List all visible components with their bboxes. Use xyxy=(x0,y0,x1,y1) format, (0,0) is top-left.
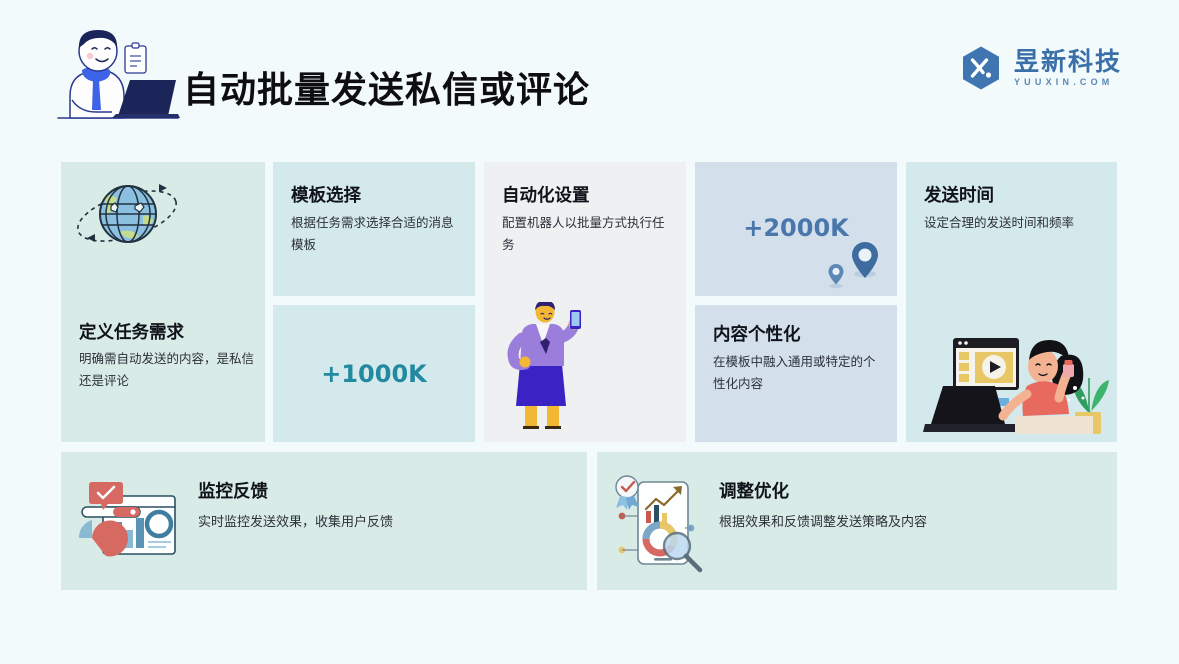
card-automation-setup[interactable]: 自动化设置 配置机器人以批量方式执行任务 xyxy=(484,162,686,442)
card-title: 监控反馈 xyxy=(198,478,268,503)
stat-value: +1000K xyxy=(321,360,427,388)
analytics-dashboard-icon xyxy=(76,474,181,569)
card-define-task[interactable]: 定义任务需求 明确需自动发送的内容，是私信还是评论 xyxy=(61,162,265,442)
map-pin-icon xyxy=(823,231,885,291)
card-content-personalization[interactable]: 内容个性化 在模板中融入通用或特定的个性化内容 xyxy=(695,305,897,442)
globe-orbit-icon xyxy=(73,172,181,260)
card-description: 明确需自动发送的内容，是私信还是评论 xyxy=(79,348,254,391)
card-description: 根据任务需求选择合适的消息模板 xyxy=(291,212,461,255)
card-title: 定义任务需求 xyxy=(79,319,184,344)
brand-name: 昱新科技 xyxy=(1014,49,1122,74)
card-title: 自动化设置 xyxy=(502,182,590,207)
card-send-time[interactable]: 发送时间 设定合理的发送时间和频率 xyxy=(906,162,1117,442)
card-description: 配置机器人以批量方式执行任务 xyxy=(502,212,674,255)
card-title: 内容个性化 xyxy=(713,321,801,346)
brand-domain: YUUXIN.COM xyxy=(1014,78,1122,87)
card-stat-1000k[interactable]: +1000K xyxy=(273,305,475,442)
card-optimize-adjust[interactable]: 调整优化 根据效果和反馈调整发送策略及内容 xyxy=(597,452,1117,590)
card-title: 模板选择 xyxy=(291,182,361,207)
card-title: 调整优化 xyxy=(719,478,789,503)
card-description: 设定合理的发送时间和频率 xyxy=(924,212,1099,234)
hexagon-x-logo-icon xyxy=(958,45,1004,91)
mobile-analytics-search-icon xyxy=(610,469,705,574)
person-at-laptop-illustration xyxy=(52,18,184,130)
card-description: 根据效果和反馈调整发送策略及内容 xyxy=(719,512,927,534)
card-template-selection[interactable]: 模板选择 根据任务需求选择合适的消息模板 xyxy=(273,162,475,296)
card-description: 实时监控发送效果，收集用户反馈 xyxy=(198,512,393,534)
page-header: 自动批量发送私信或评论 昱新科技 YUUXIN.COM xyxy=(0,0,1179,150)
woman-at-laptop-illustration xyxy=(923,320,1113,440)
woman-holding-phone-illustration xyxy=(492,302,602,432)
page-title: 自动批量发送私信或评论 xyxy=(183,61,590,113)
card-stat-2000k[interactable]: +2000K xyxy=(695,162,897,296)
card-description: 在模板中融入通用或特定的个性化内容 xyxy=(713,351,885,394)
brand-logo: 昱新科技 YUUXIN.COM xyxy=(958,45,1122,91)
card-title: 发送时间 xyxy=(924,182,994,207)
card-monitor-feedback[interactable]: 监控反馈 实时监控发送效果，收集用户反馈 xyxy=(61,452,587,590)
